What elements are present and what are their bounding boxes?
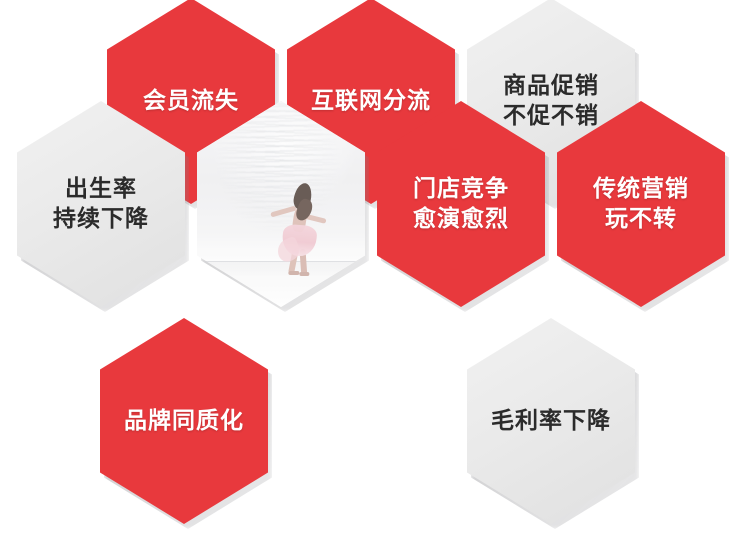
hex-label-birth-rate-decline: 出生率 持续下降	[47, 174, 155, 235]
hex-label-gross-margin-decline: 毛利率下降	[485, 406, 617, 436]
hex-label-product-promotion: 商品促销 不促不销	[497, 71, 605, 132]
hex-label-brand-homogenization: 品牌同质化	[118, 406, 250, 436]
hex-label-store-competition: 门店竞争 愈演愈烈	[407, 174, 515, 235]
infographic-canvas: 会员流失互联网分流商品促销 不促不销出生率 持续下降门店竞争 愈演愈烈传统营销 …	[0, 0, 750, 545]
hex-label-traditional-marketing: 传统营销 玩不转	[587, 174, 695, 235]
hex-label-member-loss: 会员流失	[137, 86, 245, 116]
hex-label-internet-diversion: 互联网分流	[305, 86, 437, 116]
